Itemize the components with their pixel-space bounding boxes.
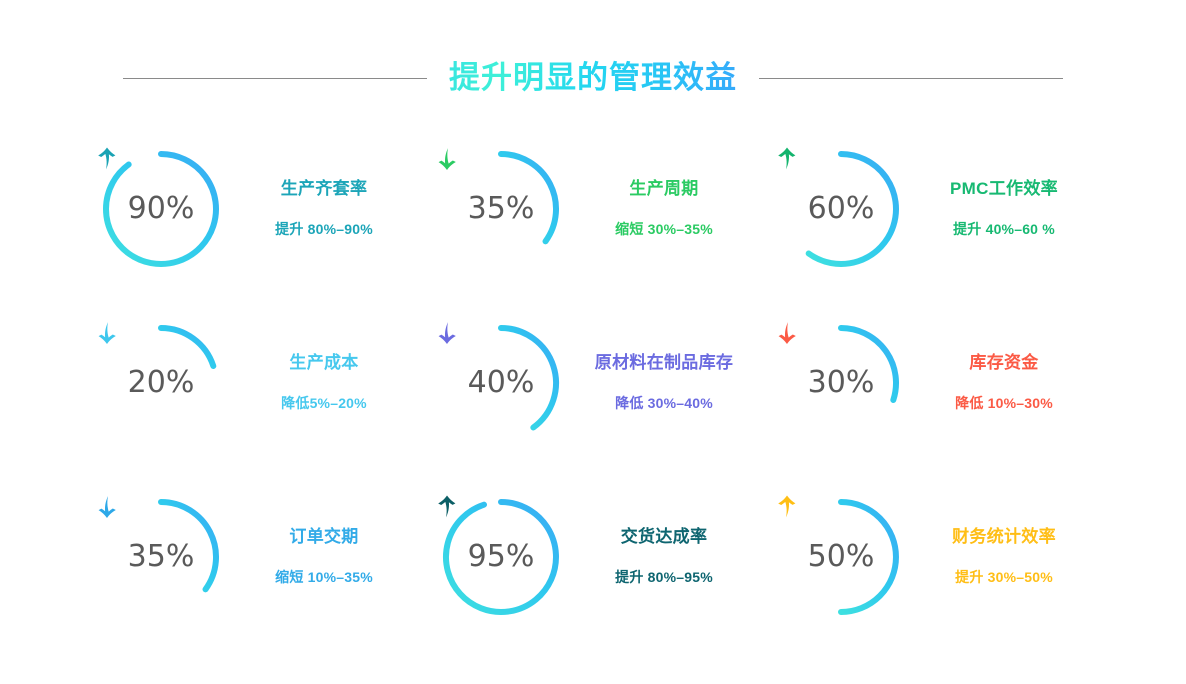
arrow-up-icon <box>776 495 798 519</box>
metric-card-text: 生产周期 缩短 30%–35% <box>580 179 748 239</box>
gauge-center: 40% <box>436 318 566 448</box>
metric-card-text: 订单交期 缩短 10%–35% <box>240 527 408 587</box>
metric-card: 60% PMC工作效率 提升 40%–60 % <box>776 122 1116 296</box>
metric-card: 30% 库存资金 降低 10%–30% <box>776 296 1116 470</box>
metric-title: 交货达成率 <box>621 527 708 547</box>
metric-card-text: 原材料在制品库存 降低 30%–40% <box>580 353 748 413</box>
metric-card-text: 财务统计效率 提升 30%–50% <box>920 527 1088 587</box>
metric-card: 50% 财务统计效率 提升 30%–50% <box>776 470 1116 644</box>
gauge-value: 90% <box>128 194 195 224</box>
metric-subtitle: 提升 80%–90% <box>275 219 373 239</box>
title-rule-right <box>759 78 1063 79</box>
metric-title: 生产齐套率 <box>281 179 368 199</box>
metric-card: 35% 生产周期 缩短 30%–35% <box>436 122 776 296</box>
progress-ring: 35% <box>96 492 226 622</box>
metric-title: 财务统计效率 <box>952 527 1056 547</box>
metric-subtitle: 缩短 30%–35% <box>615 219 713 239</box>
arrow-down-icon <box>776 321 798 345</box>
metric-card-text: PMC工作效率 提升 40%–60 % <box>920 179 1088 239</box>
page-header: 提升明显的管理效益 <box>0 52 1186 104</box>
progress-ring: 30% <box>776 318 906 448</box>
metric-card-text: 生产成本 降低5%–20% <box>240 353 408 413</box>
arrow-up-icon <box>776 147 798 171</box>
gauge-center: 60% <box>776 144 906 274</box>
arrow-down-icon <box>96 495 118 519</box>
progress-ring: 35% <box>436 144 566 274</box>
arrow-down-icon <box>96 321 118 345</box>
gauge-value: 30% <box>808 368 875 398</box>
progress-ring: 95% <box>436 492 566 622</box>
gauge-value: 20% <box>128 368 195 398</box>
progress-ring: 40% <box>436 318 566 448</box>
progress-ring: 60% <box>776 144 906 274</box>
metric-title: 订单交期 <box>289 527 358 547</box>
metric-subtitle: 缩短 10%–35% <box>275 567 373 587</box>
page-title: 提升明显的管理效益 <box>449 58 737 99</box>
gauge-center: 90% <box>96 144 226 274</box>
metric-card: 35% 订单交期 缩短 10%–35% <box>96 470 436 644</box>
gauge-center: 30% <box>776 318 906 448</box>
arrow-up-icon <box>96 147 118 171</box>
metric-card: 40% 原材料在制品库存 降低 30%–40% <box>436 296 776 470</box>
progress-ring: 90% <box>96 144 226 274</box>
progress-ring: 20% <box>96 318 226 448</box>
gauge-value: 60% <box>808 194 875 224</box>
gauge-value: 95% <box>468 542 535 572</box>
gauge-center: 50% <box>776 492 906 622</box>
metric-card: 90% 生产齐套率 提升 80%–90% <box>96 122 436 296</box>
title-rule-left <box>123 78 427 79</box>
metric-subtitle: 提升 40%–60 % <box>953 219 1055 239</box>
metric-title: 库存资金 <box>969 353 1038 373</box>
metric-subtitle: 降低5%–20% <box>281 393 367 413</box>
arrow-up-icon <box>436 495 458 519</box>
metric-title: PMC工作效率 <box>950 179 1058 199</box>
metric-card-text: 交货达成率 提升 80%–95% <box>580 527 748 587</box>
metric-card-text: 生产齐套率 提升 80%–90% <box>240 179 408 239</box>
metric-subtitle: 降低 10%–30% <box>955 393 1053 413</box>
arrow-down-icon <box>436 147 458 171</box>
metric-subtitle: 降低 30%–40% <box>615 393 713 413</box>
gauge-center: 35% <box>96 492 226 622</box>
metrics-grid: 90% 生产齐套率 提升 80%–90% <box>96 122 1096 642</box>
gauge-value: 35% <box>468 194 535 224</box>
metric-title: 原材料在制品库存 <box>595 353 733 373</box>
gauge-value: 35% <box>128 542 195 572</box>
metric-title: 生产成本 <box>289 353 358 373</box>
gauge-center: 20% <box>96 318 226 448</box>
gauge-value: 50% <box>808 542 875 572</box>
gauge-value: 40% <box>468 368 535 398</box>
gauge-center: 35% <box>436 144 566 274</box>
gauge-center: 95% <box>436 492 566 622</box>
metric-title: 生产周期 <box>629 179 698 199</box>
progress-ring: 50% <box>776 492 906 622</box>
metric-subtitle: 提升 80%–95% <box>615 567 713 587</box>
metric-card: 95% 交货达成率 提升 80%–95% <box>436 470 776 644</box>
metric-subtitle: 提升 30%–50% <box>955 567 1053 587</box>
metric-card: 20% 生产成本 降低5%–20% <box>96 296 436 470</box>
arrow-down-icon <box>436 321 458 345</box>
metric-card-text: 库存资金 降低 10%–30% <box>920 353 1088 413</box>
